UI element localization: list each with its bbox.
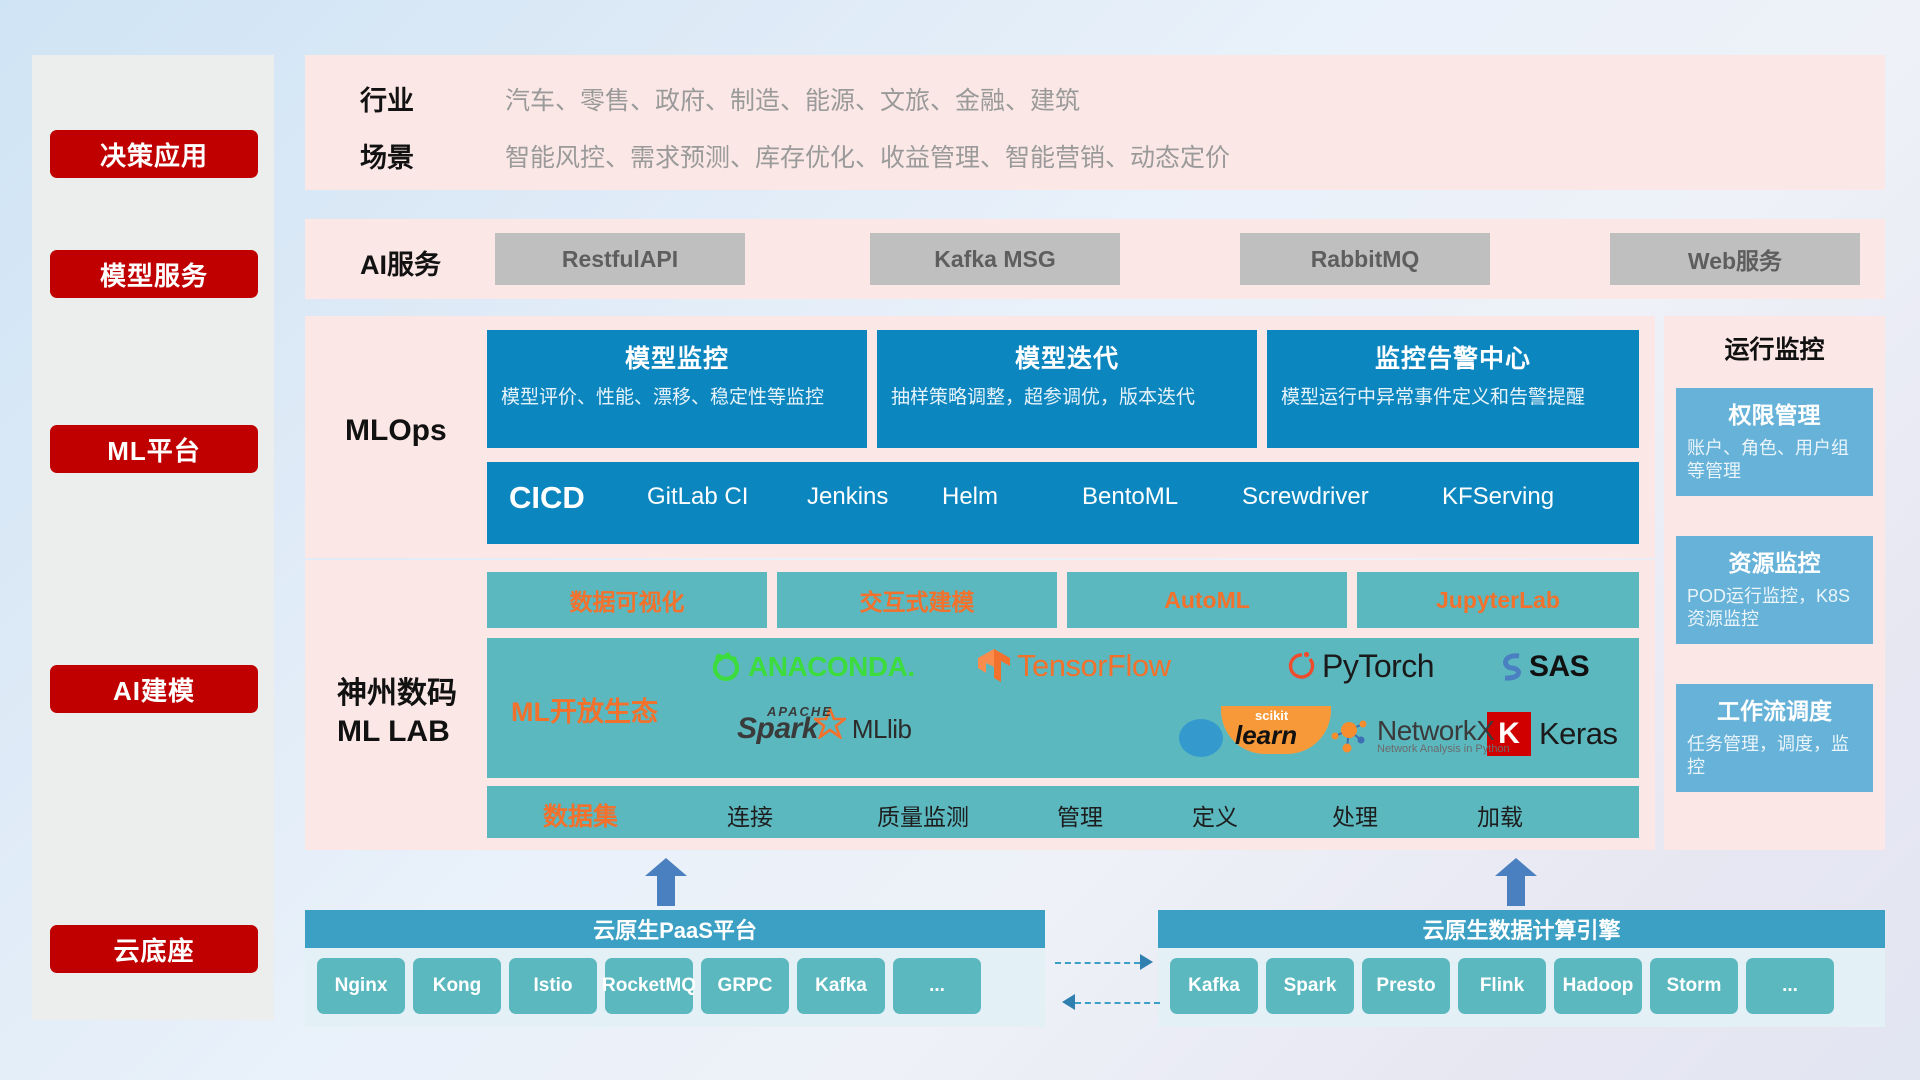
cicd-bar: CICD GitLab CI Jenkins Helm BentoML Scre… — [487, 462, 1639, 544]
compute-chip-storm[interactable]: Storm — [1650, 958, 1738, 1014]
ml-lab-label: 神州数码 ML LAB — [337, 675, 457, 750]
compute-chip-spark[interactable]: Spark — [1266, 958, 1354, 1014]
sas-mark-icon — [1497, 651, 1527, 683]
cicd-title: CICD — [509, 480, 585, 516]
spark-apache-text: APACHE — [767, 704, 833, 719]
tensorflow-wordmark: TensorFlow — [1017, 648, 1171, 684]
cloud-paas-title: 云原生PaaS平台 — [305, 910, 1045, 948]
monitor-card-workflow[interactable]: 工作流调度 任务管理，调度，监控 — [1676, 684, 1873, 792]
mlops-card-desc: 模型运行中异常事件定义和告警提醒 — [1281, 385, 1625, 411]
mlops-card-title: 模型监控 — [501, 339, 853, 375]
spark-mllib-logo: APACHE Spark MLlib — [737, 712, 912, 746]
cloud-paas-panel: 云原生PaaS平台 Nginx Kong Istio RocketMQ GRPC… — [305, 910, 1045, 1027]
networkx-logo: NetworkX Network Analysis in Python — [1325, 712, 1510, 758]
tensorflow-logo: TensorFlow — [977, 648, 1171, 684]
paas-chip-kong[interactable]: Kong — [413, 958, 501, 1014]
cloud-compute-title: 云原生数据计算引擎 — [1158, 910, 1885, 948]
dataset-item-quality[interactable]: 质量监测 — [877, 798, 969, 832]
anaconda-logo: ANACONDA. — [709, 650, 915, 684]
cloud-compute-panel: 云原生数据计算引擎 Kafka Spark Presto Flink Hadoo… — [1158, 910, 1885, 1027]
ml-lab-label-line1: 神州数码 — [337, 675, 457, 713]
mlops-card-title: 监控告警中心 — [1281, 339, 1625, 375]
monitor-card-desc: POD运行监控，K8S资源监控 — [1687, 585, 1862, 632]
scenario-label: 场景 — [360, 136, 414, 175]
paas-chip-grpc[interactable]: GRPC — [701, 958, 789, 1014]
service-chip-kafka-msg[interactable]: Kafka MSG — [870, 233, 1120, 285]
connector-right-dashed — [1055, 962, 1140, 964]
mlops-card-alert-center[interactable]: 监控告警中心 模型运行中异常事件定义和告警提醒 — [1267, 330, 1639, 448]
arrow-up-paas — [645, 858, 687, 910]
ml-open-ecosystem-label: ML开放生态 — [511, 690, 658, 729]
compute-chip-flink[interactable]: Flink — [1458, 958, 1546, 1014]
anaconda-wordmark: ANACONDA. — [748, 651, 915, 683]
rail-item-ml-platform[interactable]: ML平台 — [50, 425, 258, 473]
mlops-card-title: 模型迭代 — [891, 339, 1243, 375]
compute-chip-kafka[interactable]: Kafka — [1170, 958, 1258, 1014]
pytorch-wordmark: PyTorch — [1322, 648, 1434, 685]
monitor-card-title: 工作流调度 — [1687, 692, 1862, 726]
ml-open-ecosystem-box: ML开放生态 ANACONDA. TensorFlow PyTorch SAS — [487, 638, 1639, 778]
sas-logo: SAS — [1497, 650, 1589, 684]
monitor-card-title: 权限管理 — [1687, 396, 1862, 430]
dataset-item-load[interactable]: 加载 — [1477, 798, 1523, 832]
dataset-item-process[interactable]: 处理 — [1332, 798, 1378, 832]
industry-label: 行业 — [360, 79, 414, 118]
keras-wordmark: Keras — [1539, 716, 1617, 752]
tensorflow-mark-icon — [977, 648, 1011, 684]
runtime-monitoring-title: 运行监控 — [1664, 316, 1885, 366]
mlops-card-model-monitor[interactable]: 模型监控 模型评价、性能、漂移、稳定性等监控 — [487, 330, 867, 448]
runtime-monitoring-column: 运行监控 权限管理 账户、角色、用户组等管理 资源监控 POD运行监控，K8S资… — [1664, 316, 1885, 850]
architecture-diagram: 决策应用 模型服务 ML平台 AI建模 云底座 行业 汽车、零售、政府、制造、能… — [0, 0, 1920, 1080]
scikit-learn-logo: scikit learn — [1177, 708, 1237, 760]
networkx-tagline: Network Analysis in Python — [1377, 743, 1510, 755]
sas-wordmark: SAS — [1529, 650, 1589, 684]
dataset-item-define[interactable]: 定义 — [1192, 798, 1238, 832]
mlops-card-desc: 模型评价、性能、漂移、稳定性等监控 — [501, 385, 853, 411]
cicd-item-bentoml[interactable]: BentoML — [1082, 484, 1200, 509]
monitor-card-desc: 任务管理，调度，监控 — [1687, 733, 1862, 780]
compute-chip-presto[interactable]: Presto — [1362, 958, 1450, 1014]
mlops-card-desc: 抽样策略调整，超参调优，版本迭代 — [891, 385, 1243, 411]
monitor-card-desc: 账户、角色、用户组等管理 — [1687, 437, 1862, 484]
dataset-item-manage[interactable]: 管理 — [1057, 798, 1103, 832]
dataset-bar: 数据集 连接 质量监测 管理 定义 处理 加载 — [487, 786, 1639, 838]
rail-item-model-service[interactable]: 模型服务 — [50, 250, 258, 298]
mlops-card-model-iteration[interactable]: 模型迭代 抽样策略调整，超参调优，版本迭代 — [877, 330, 1257, 448]
arrow-up-compute — [1495, 858, 1537, 910]
monitor-card-title: 资源监控 — [1687, 544, 1862, 578]
layer-rail: 决策应用 模型服务 ML平台 AI建模 云底座 — [32, 55, 274, 1020]
mlops-band: MLOps 模型监控 模型评价、性能、漂移、稳定性等监控 模型迭代 抽样策略调整… — [305, 316, 1655, 558]
ai-service-band: AI服务 RestfulAPI Kafka MSG RabbitMQ Web服务 — [305, 219, 1885, 299]
cicd-item-helm[interactable]: Helm — [942, 484, 1060, 509]
learn-text: learn — [1235, 720, 1297, 751]
monitor-card-resource[interactable]: 资源监控 POD运行监控，K8S资源监控 — [1676, 536, 1873, 644]
tool-chip-jupyterlab[interactable]: JupyterLab — [1357, 572, 1639, 628]
service-chip-restfulapi[interactable]: RestfulAPI — [495, 233, 745, 285]
rail-item-cloud-base[interactable]: 云底座 — [50, 925, 258, 973]
ai-service-label: AI服务 — [360, 243, 441, 282]
connector-left-arrowhead — [1062, 994, 1075, 1010]
ai-modeling-band: 神州数码 ML LAB 数据可视化 交互式建模 AutoML JupyterLa… — [305, 560, 1655, 850]
dataset-title: 数据集 — [543, 797, 618, 833]
dataset-item-connect[interactable]: 连接 — [727, 798, 773, 832]
mlops-label: MLOps — [345, 414, 447, 448]
connector-right-arrowhead — [1140, 954, 1153, 970]
anaconda-mark-icon — [709, 650, 743, 684]
mllib-wordmark: MLlib — [852, 714, 912, 745]
connector-left-dashed — [1075, 1002, 1160, 1004]
paas-chip-kafka[interactable]: Kafka — [797, 958, 885, 1014]
tool-chip-interactive-modeling[interactable]: 交互式建模 — [777, 572, 1057, 628]
scenario-value: 智能风控、需求预测、库存优化、收益管理、智能营销、动态定价 — [505, 138, 1230, 174]
service-chip-web-service[interactable]: Web服务 — [1610, 233, 1860, 285]
paas-chip-istio[interactable]: Istio — [509, 958, 597, 1014]
paas-chip-more[interactable]: ... — [893, 958, 981, 1014]
industry-scenario-band: 行业 汽车、零售、政府、制造、能源、文旅、金融、建筑 场景 智能风控、需求预测、… — [305, 55, 1885, 190]
industry-value: 汽车、零售、政府、制造、能源、文旅、金融、建筑 — [505, 81, 1080, 117]
service-chip-rabbitmq[interactable]: RabbitMQ — [1240, 233, 1490, 285]
rail-item-ai-modeling[interactable]: AI建模 — [50, 665, 258, 713]
cicd-item-kfserving[interactable]: KFServing — [1442, 484, 1560, 509]
tool-chip-automl[interactable]: AutoML — [1067, 572, 1347, 628]
cicd-item-screwdriver[interactable]: Screwdriver — [1242, 484, 1360, 509]
paas-chip-nginx[interactable]: Nginx — [317, 958, 405, 1014]
cicd-item-jenkins[interactable]: Jenkins — [807, 484, 925, 509]
rail-item-decision-app[interactable]: 决策应用 — [50, 130, 258, 178]
pytorch-logo: PyTorch — [1287, 648, 1434, 685]
compute-chip-more[interactable]: ... — [1746, 958, 1834, 1014]
pytorch-mark-icon — [1287, 650, 1317, 684]
cicd-item-gitlab-ci[interactable]: GitLab CI — [647, 484, 765, 509]
networkx-mark-icon — [1325, 712, 1373, 758]
ml-lab-label-line2: ML LAB — [337, 713, 457, 751]
monitor-card-permission[interactable]: 权限管理 账户、角色、用户组等管理 — [1676, 388, 1873, 496]
paas-chip-rocketmq[interactable]: RocketMQ — [605, 958, 693, 1014]
tool-chip-data-visualization[interactable]: 数据可视化 — [487, 572, 767, 628]
compute-chip-hadoop[interactable]: Hadoop — [1554, 958, 1642, 1014]
